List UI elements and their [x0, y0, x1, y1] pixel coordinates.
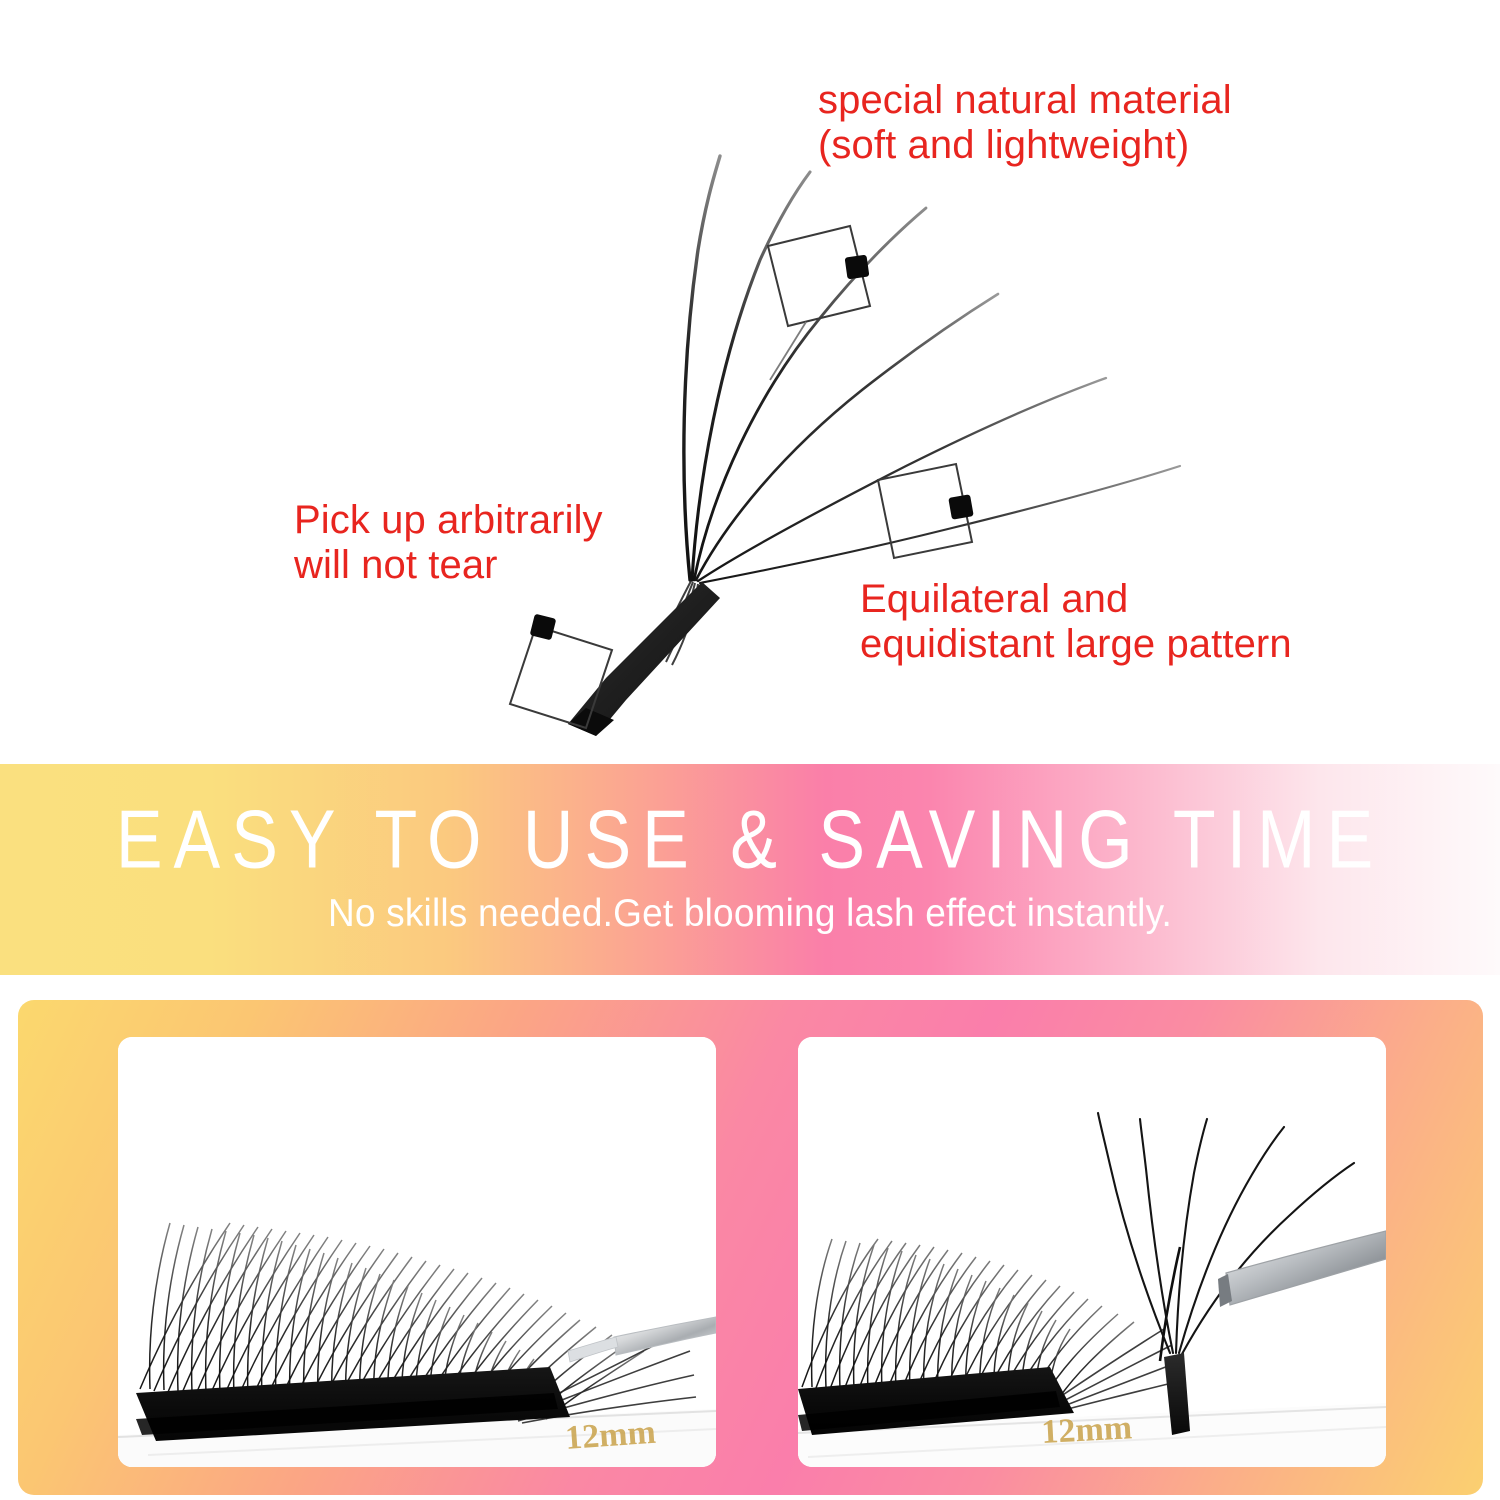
- callout-marker-middle: [878, 464, 974, 558]
- lash-tray-photo: 12mm: [118, 1037, 716, 1467]
- photo-panel-lash-tray-with-tweezers[interactable]: 12mm: [118, 1037, 716, 1467]
- callout-pick-up-arbitrarily: Pick up arbitrarily will not tear: [294, 498, 603, 588]
- hero-diagram-section: special natural material (soft and light…: [0, 0, 1500, 764]
- callout-equilateral-equidistant: Equilateral and equidistant large patter…: [860, 577, 1292, 667]
- lash-hairs: [684, 156, 1180, 583]
- photo-gallery-section: 12mm: [18, 1000, 1483, 1495]
- tray-size-label-left: 12mm: [564, 1414, 657, 1457]
- banner-subtitle: No skills needed.Get blooming lash effec…: [0, 891, 1500, 936]
- callout-special-natural-material: special natural material (soft and light…: [818, 78, 1232, 168]
- banner-title: EASY TO USE & SAVING TIME: [0, 792, 1500, 886]
- lash-fan-pickup-photo: 12mm: [798, 1037, 1386, 1467]
- photo-panel-lash-fan-pickup[interactable]: 12mm: [798, 1037, 1386, 1467]
- callout-marker-top: [768, 226, 870, 380]
- tray-size-label-right: 12mm: [1040, 1409, 1132, 1451]
- product-infographic-page: special natural material (soft and light…: [0, 0, 1500, 1500]
- easy-to-use-banner: EASY TO USE & SAVING TIME No skills need…: [0, 764, 1500, 975]
